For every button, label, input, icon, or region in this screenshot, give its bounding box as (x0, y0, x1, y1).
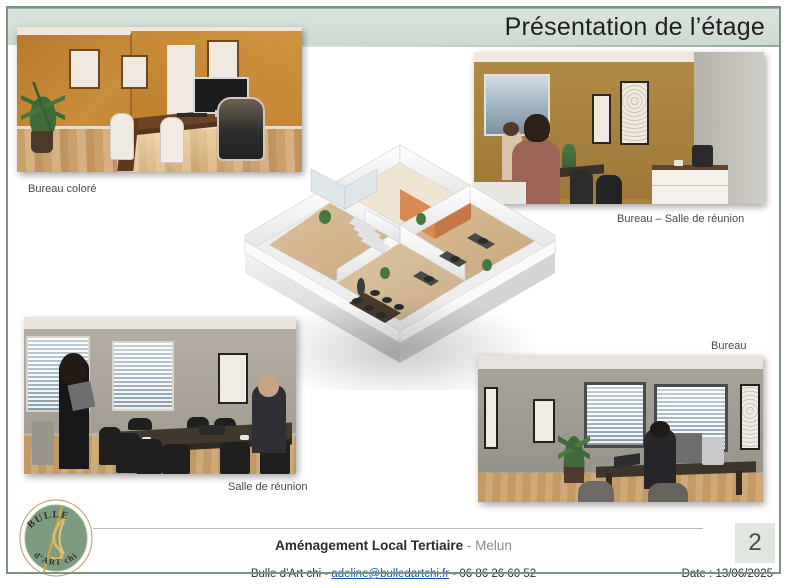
meeting-room-render (24, 317, 296, 474)
photo-office-grey[interactable] (478, 355, 763, 502)
footer-contact-prefix: Bulle d’Art chi - (251, 568, 332, 580)
caption-office-grey: Bureau (711, 340, 746, 352)
footer-email-link[interactable]: adeline@bulledartchi.fr (331, 568, 449, 580)
footer-project-title: Aménagement Local Tertiaire - Melun (0, 538, 787, 553)
footer-project-bold: Aménagement Local Tertiaire (275, 538, 463, 553)
caption-office-colored: Bureau coloré (28, 183, 97, 195)
company-logo[interactable]: BULLE d’ART chi (14, 492, 98, 580)
logo-icon: BULLE d’ART chi (14, 492, 98, 580)
footer-contact-phone: - 06 86 26 60 52 (449, 568, 536, 580)
page-title: Présentation de l’étage (505, 10, 765, 45)
footer-project-location: - Melun (463, 538, 512, 553)
page-number: 2 (748, 529, 761, 557)
footer-contact: Bulle d’Art chi - adeline@bulledartchi.f… (0, 568, 787, 580)
footer-date: Date : 13/06/2025 (682, 568, 773, 580)
presentation-slide: Présentation de l’étage B (0, 0, 787, 588)
caption-office-meeting: Bureau – Salle de réunion (617, 213, 744, 225)
caption-meeting-room: Salle de réunion (228, 481, 308, 493)
photo-meeting-room[interactable] (24, 317, 296, 474)
office-grey-render (478, 355, 763, 502)
page-number-box: 2 (735, 523, 775, 563)
footer-divider (93, 528, 703, 529)
